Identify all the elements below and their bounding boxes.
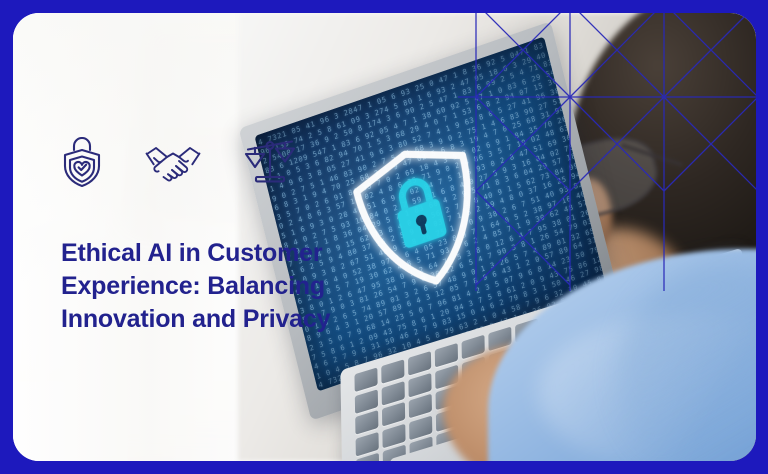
trust-icon-row (61, 135, 297, 194)
scales-of-justice-icon (243, 135, 297, 194)
shield-lock-heart-icon (61, 137, 103, 192)
banner-card: 4 7321 05 41 96 3 2847 1 05 6 93 25 0 47… (13, 13, 756, 461)
page-title: Ethical AI in Customer Experience: Balan… (61, 237, 371, 336)
handshake-icon (145, 140, 201, 189)
page-title-line-3: Innovation and Privacy (61, 303, 371, 336)
banner-content: Ethical AI in Customer Experience: Balan… (48, 13, 378, 461)
banner: 4 7321 05 41 96 3 2847 1 05 6 93 25 0 47… (0, 0, 768, 474)
page-title-line-2: Experience: Balancing (61, 270, 371, 303)
page-title-line-1: Ethical AI in Customer (61, 237, 371, 270)
